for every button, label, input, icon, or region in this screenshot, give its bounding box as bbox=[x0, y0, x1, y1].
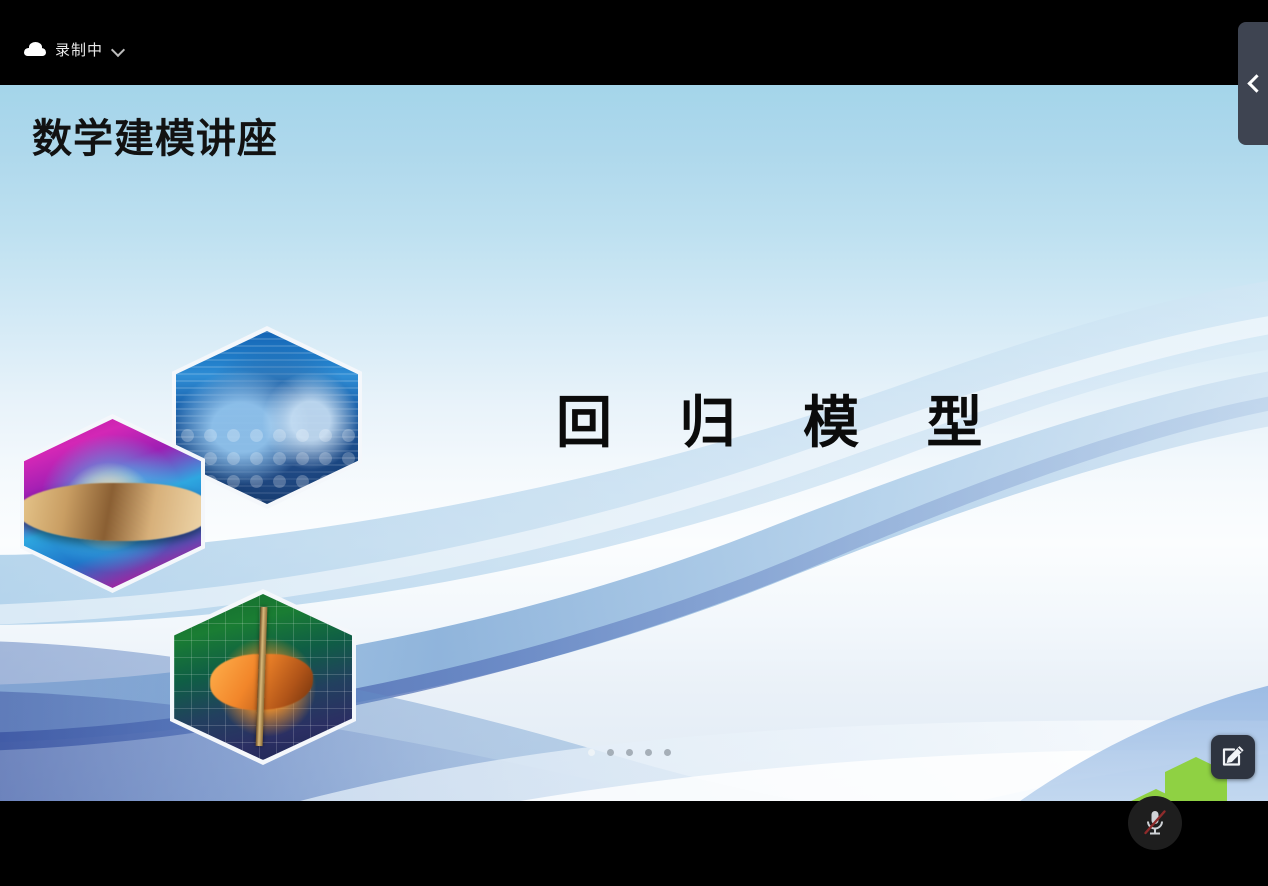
chevron-down-icon[interactable] bbox=[112, 43, 125, 56]
recording-top-bar: 录制中 bbox=[0, 0, 1268, 85]
slide-dot-4 bbox=[645, 749, 652, 756]
chevron-left-icon[interactable] bbox=[1247, 74, 1261, 92]
presentation-slide[interactable]: 数学建模讲座 回 归 模 型 bbox=[0, 85, 1268, 801]
slide-dot-2 bbox=[607, 749, 614, 756]
pencil-icon bbox=[1220, 744, 1246, 770]
collapse-panel-tab[interactable] bbox=[1238, 22, 1268, 145]
mic-muted-icon bbox=[1141, 808, 1169, 838]
hex-photo-map-pen bbox=[170, 589, 356, 765]
annotate-button[interactable] bbox=[1211, 735, 1255, 779]
mic-mute-button[interactable] bbox=[1128, 796, 1182, 850]
recording-status-label: 录制中 bbox=[55, 39, 103, 60]
screen-root: 录制中 bbox=[0, 0, 1268, 886]
cloud-icon bbox=[24, 42, 46, 56]
recording-status-button[interactable]: 录制中 bbox=[20, 36, 129, 62]
slide-header-title: 数学建模讲座 bbox=[32, 119, 278, 159]
slide-dot-3 bbox=[626, 749, 633, 756]
handshake-shape bbox=[17, 483, 208, 540]
slide-dot-5 bbox=[664, 749, 671, 756]
slide-dot-indicators bbox=[588, 749, 671, 756]
slide-dot-1 bbox=[588, 749, 595, 756]
slide-main-heading: 回 归 模 型 bbox=[556, 378, 1007, 459]
hex-photo-handshake bbox=[20, 414, 205, 593]
